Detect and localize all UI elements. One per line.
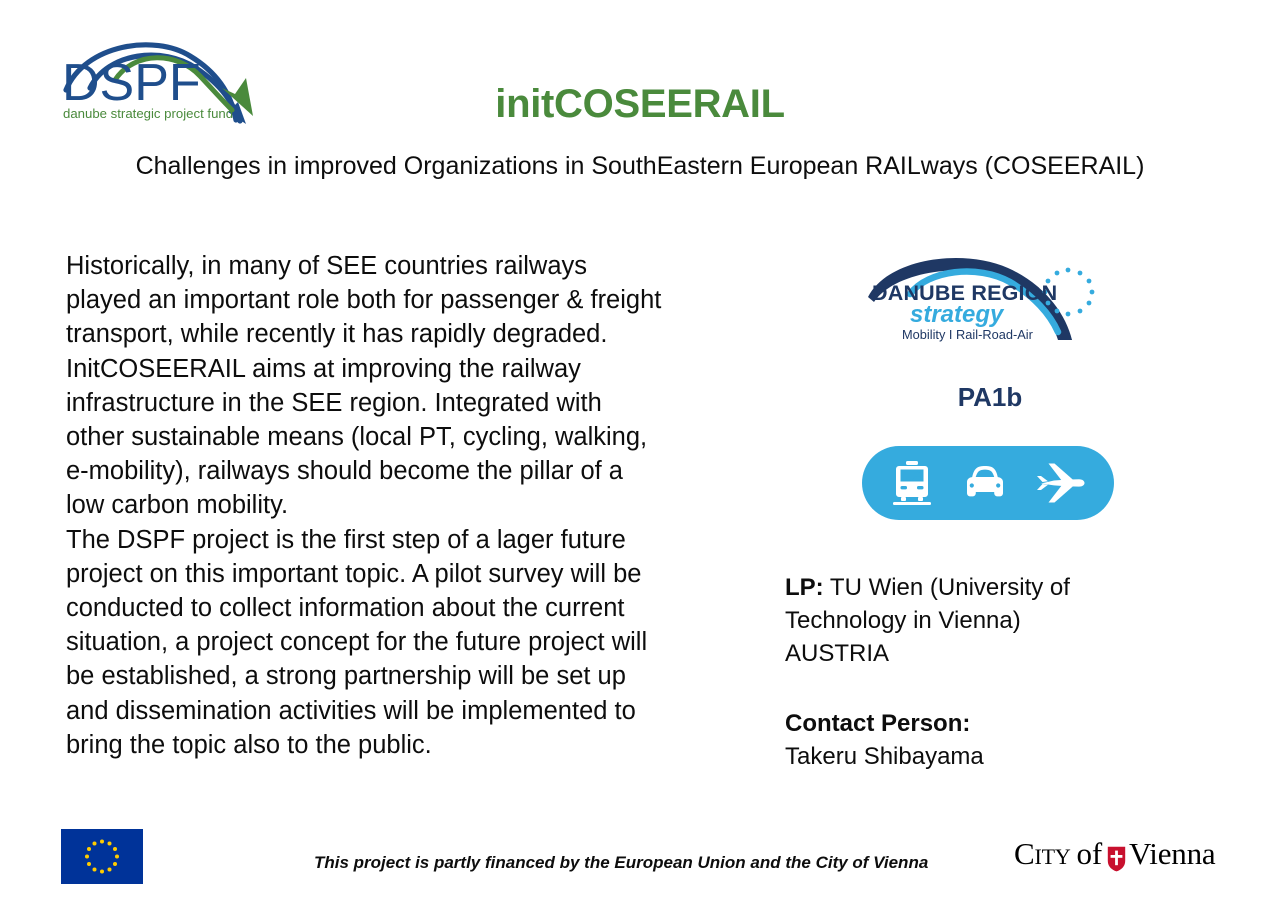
project-description: Historically, in many of SEE countries r…: [66, 249, 666, 762]
page-title: initCOSEERAIL: [0, 82, 1280, 127]
eu-flag: [61, 829, 143, 884]
transport-modes-pill: [862, 446, 1114, 520]
vienna-city-text: City: [1014, 836, 1071, 872]
page-subtitle: Challenges in improved Organizations in …: [0, 152, 1280, 181]
danube-region-strategy-logo: DANUBE REGION strategy Mobility I Rail-R…: [858, 252, 1120, 348]
contact-name: Takeru Shibayama: [785, 740, 1185, 773]
vienna-of-text: of: [1077, 836, 1102, 872]
lead-partner-value: TU Wien (University of Technology in Vie…: [785, 574, 1070, 634]
plane-icon: [1036, 461, 1086, 505]
svg-text:Mobility I Rail-Road-Air: Mobility I Rail-Road-Air: [902, 327, 1034, 342]
vienna-shield-icon: [1107, 844, 1126, 870]
lead-partner-country: AUSTRIA: [785, 640, 889, 667]
lead-partner-label: LP:: [785, 574, 824, 601]
city-of-vienna-logo: Cityof Vienna: [1014, 834, 1230, 874]
priority-area-label: PA1b: [860, 382, 1120, 413]
svg-text:strategy: strategy: [910, 301, 1005, 328]
contact-block: Contact Person: Takeru Shibayama: [785, 707, 1185, 773]
train-icon: [890, 460, 934, 506]
contact-heading: Contact Person:: [785, 707, 1185, 740]
description-paragraph-1: Historically, in many of SEE countries r…: [66, 249, 666, 523]
lead-partner-block: LP: TU Wien (University of Technology in…: [785, 571, 1185, 670]
car-icon: [961, 464, 1009, 502]
vienna-vienna-text: Vienna: [1129, 836, 1215, 872]
funding-note: This project is partly financed by the E…: [314, 853, 928, 873]
description-paragraph-2: The DSPF project is the first step of a …: [66, 523, 666, 762]
